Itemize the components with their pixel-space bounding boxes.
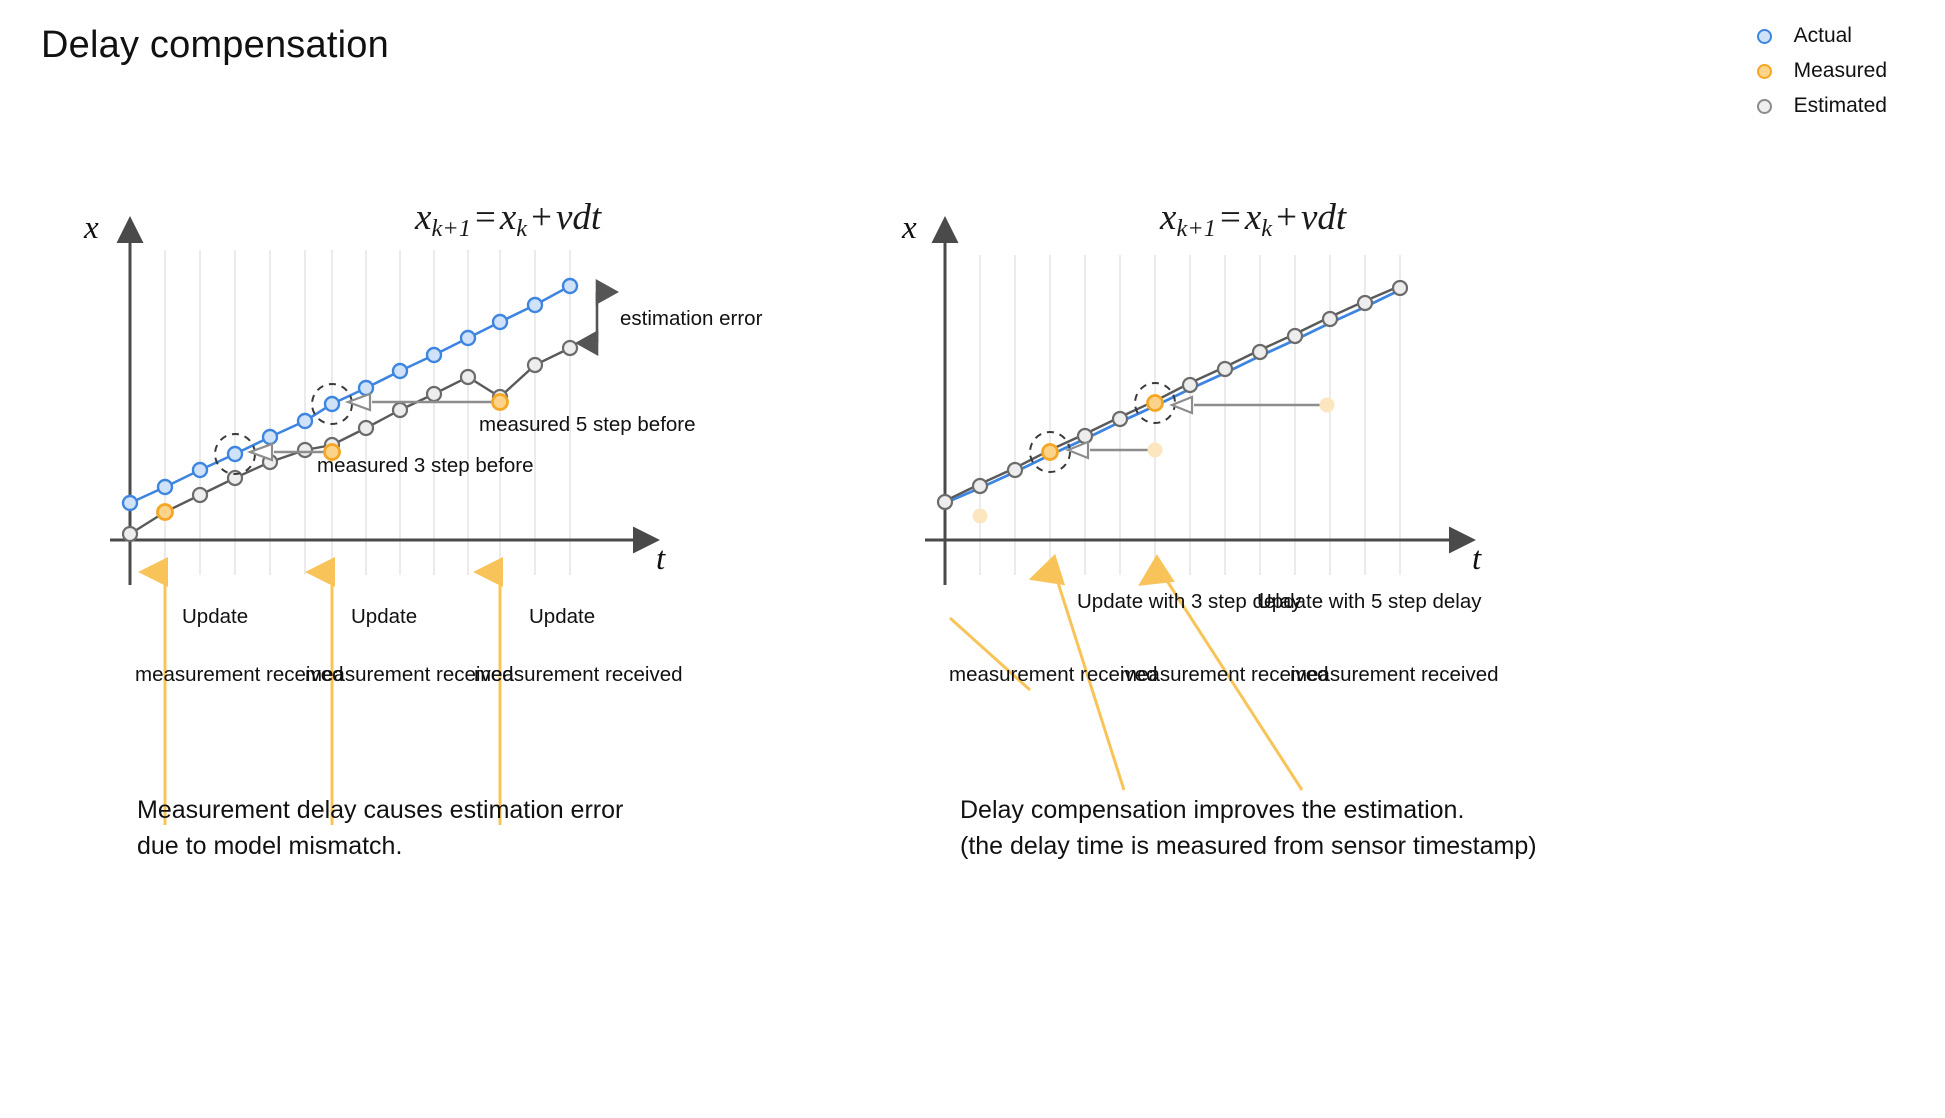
correction-arrow-5step-right [1172,397,1327,413]
measured-point [493,395,508,410]
panel-compensated-update: xk+1=xk+vdt x t [872,0,1844,1118]
measured-point [1043,445,1058,460]
chart-right [872,0,1844,1118]
caption-left: Measurement delay causes estimation erro… [137,793,623,864]
panel-delayed-update: xk+1=xk+vdt x t [0,0,972,1118]
measured-point [1148,396,1163,411]
update-label-5step-right: Update with 5 step delay [1257,588,1482,616]
series-measured-faded-right [973,398,1335,524]
measurement-received-3-left: measurement received [474,661,683,689]
measured-5-step-label: measured 5 step before [479,411,696,439]
measured-point-faded [1148,443,1163,458]
update-label-3-left: Update [529,603,595,631]
measured-point [158,505,173,520]
caption-right: Delay compensation improves the estimati… [960,793,1537,864]
series-estimated-points-left [123,341,577,541]
chart-left [0,0,972,1118]
update-label-1-left: Update [182,603,248,631]
correction-arrow-3step-right [1068,442,1155,458]
update-label-2-left: Update [351,603,417,631]
measured-3-step-label: measured 3 step before [317,452,534,480]
series-estimated-left [130,348,570,534]
measurement-received-3-right: measurement received [1290,661,1499,689]
estimation-error-label: estimation error [620,305,762,333]
correction-arrow-5step-left [348,394,500,410]
measured-point-faded [973,509,988,524]
measured-point-faded [1320,398,1335,413]
gridlines-right [980,255,1400,575]
